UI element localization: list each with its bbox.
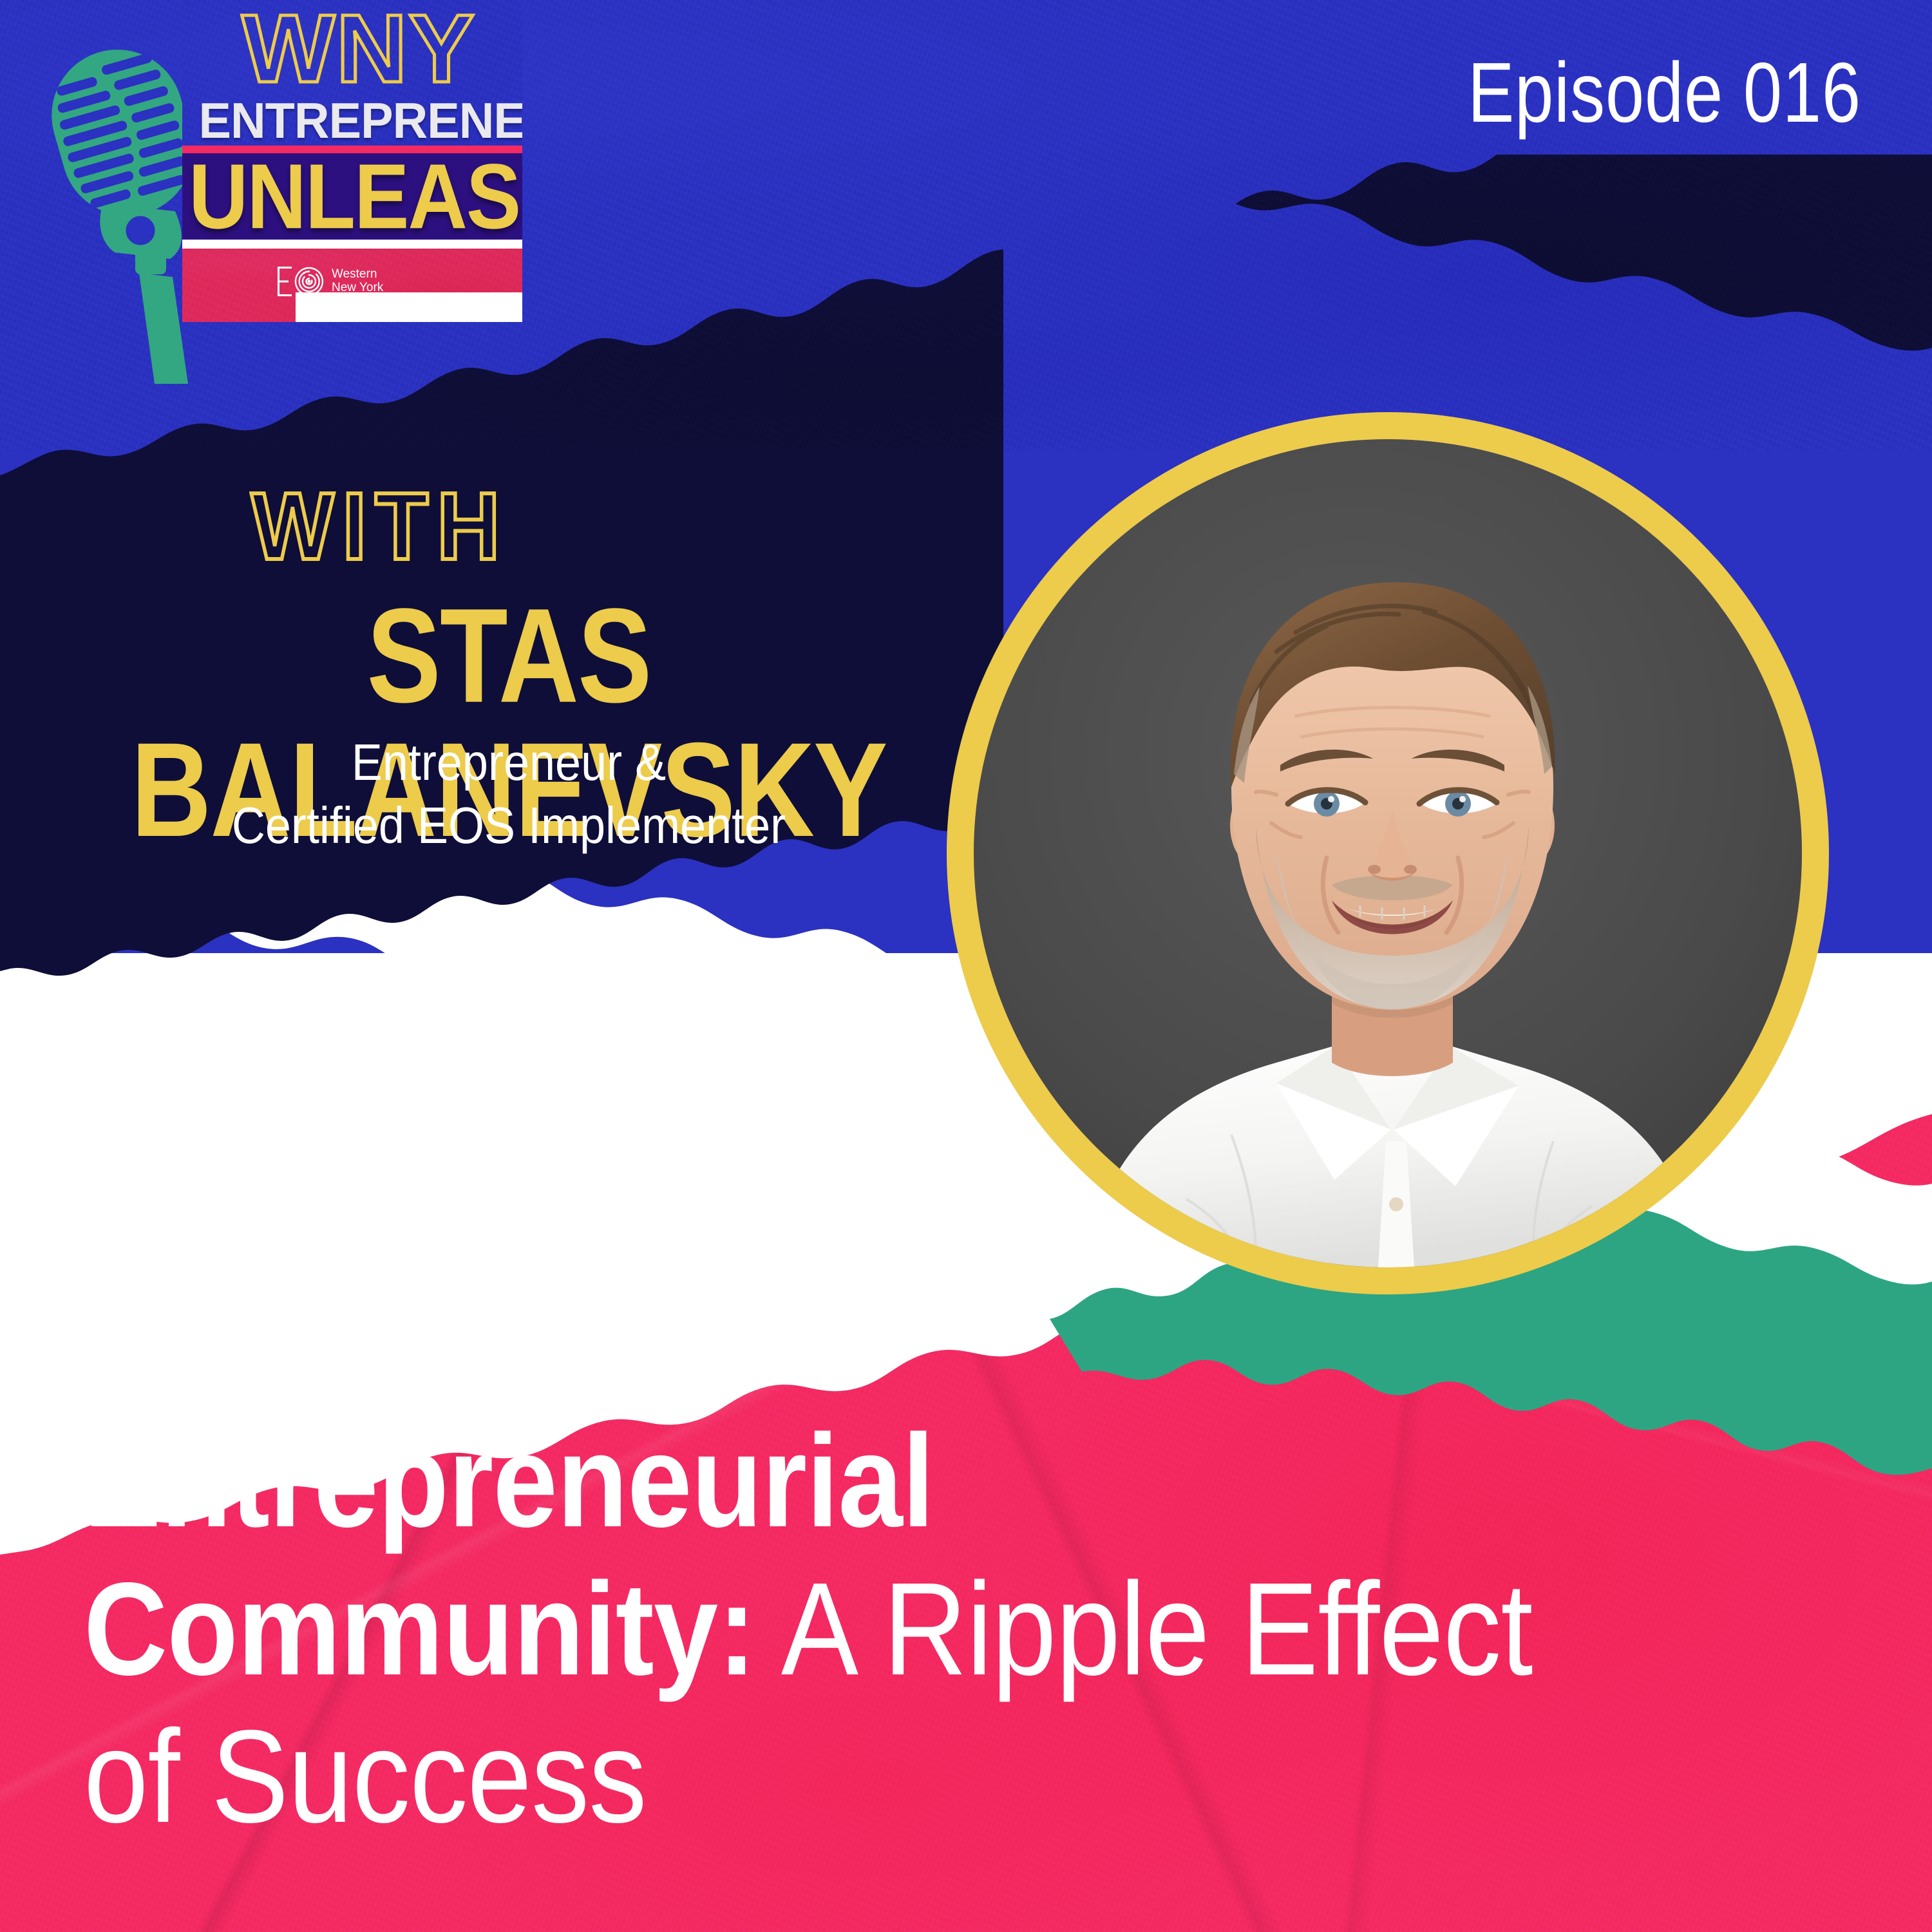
guest-portrait xyxy=(947,412,1829,1294)
show-logo-block: WNY ENTREPRENEURS UNLEASHED Western New … xyxy=(182,0,522,322)
logo-line-unleashed: UNLEASHED xyxy=(189,144,520,250)
episode-title: Entrepreneurial Community: A Ripple Effe… xyxy=(84,1407,1535,1851)
eo-spiral-icon xyxy=(294,267,324,296)
podcast-episode-cover: WNY ENTREPRENEURS UNLEASHED Western New … xyxy=(0,0,1932,1932)
eo-letter-e xyxy=(278,267,292,296)
eo-mark xyxy=(278,267,324,296)
logo-line-wny: WNY xyxy=(207,9,509,88)
eo-chapter-name: Western New York xyxy=(332,268,383,294)
portrait-gold-ring xyxy=(947,412,1829,1294)
guest-role: Entrepreneur & Certified EOS Implementer xyxy=(109,731,909,857)
logo-line-entrepreneurs: ENTREPRENEURS xyxy=(199,91,511,150)
with-label: WITH xyxy=(251,479,508,574)
eo-logo-lockup: Western New York xyxy=(278,267,383,296)
episode-number-label: Episode 016 xyxy=(1468,50,1861,135)
logo-white-corner xyxy=(296,292,522,322)
